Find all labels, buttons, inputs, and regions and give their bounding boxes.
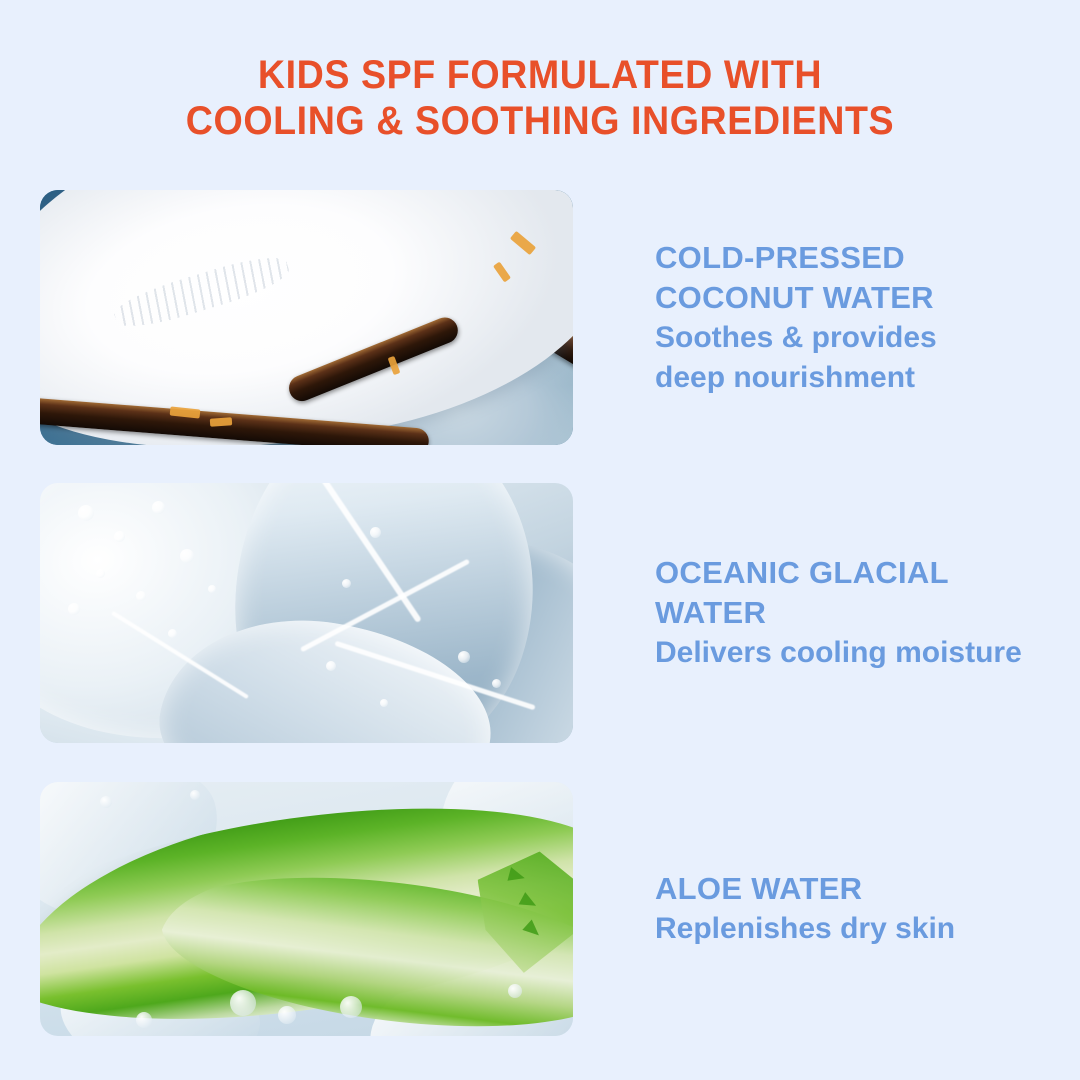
- ingredient-text-glacial: OCEANIC GLACIAL WATER Delivers cooling m…: [573, 553, 1040, 673]
- ice-bubble: [114, 531, 125, 542]
- ice-bubble: [152, 501, 165, 514]
- coconut-half-photo: [40, 190, 573, 445]
- glacial-ice-photo: [40, 483, 573, 743]
- ingredient-heading: ALOE WATER: [655, 869, 1040, 909]
- water-droplet: [230, 990, 256, 1016]
- ice-bubble: [96, 569, 105, 578]
- ingredient-row-aloe: ALOE WATER Replenishes dry skin: [40, 782, 1040, 1036]
- ice-bubble: [68, 603, 80, 615]
- water-droplet: [100, 796, 112, 808]
- water-droplet: [340, 996, 362, 1018]
- ice-bubble: [326, 661, 336, 671]
- ice-bubble: [492, 679, 501, 688]
- ingredient-description: Delivers cooling moisture: [655, 633, 1040, 673]
- ice-bubble: [168, 629, 177, 638]
- ingredient-text-aloe: ALOE WATER Replenishes dry skin: [573, 869, 1040, 949]
- ingredient-row-coconut: COLD-PRESSED COCONUT WATER Soothes & pro…: [40, 190, 1040, 445]
- ingredients-infographic: KIDS SPF FORMULATED WITH COOLING & SOOTH…: [0, 0, 1080, 1080]
- ingredient-heading: OCEANIC GLACIAL WATER: [655, 553, 1040, 633]
- water-droplet: [278, 1006, 296, 1024]
- ingredient-row-glacial: OCEANIC GLACIAL WATER Delivers cooling m…: [40, 483, 1040, 743]
- ice-bubble: [208, 585, 216, 593]
- page-title: KIDS SPF FORMULATED WITH COOLING & SOOTH…: [0, 52, 1080, 144]
- water-droplet: [190, 790, 200, 800]
- ingredient-text-coconut: COLD-PRESSED COCONUT WATER Soothes & pro…: [573, 238, 1040, 398]
- aloe-vera-leaf-photo: [40, 782, 573, 1036]
- ingredient-heading: COLD-PRESSED COCONUT WATER: [655, 238, 1040, 318]
- ice-bubble: [458, 651, 470, 663]
- page-title-line-1: KIDS SPF FORMULATED WITH: [32, 52, 1047, 98]
- page-title-line-2: COOLING & SOOTHING INGREDIENTS: [32, 98, 1047, 144]
- ice-bubble: [370, 527, 381, 538]
- water-droplet: [508, 984, 522, 998]
- ice-bubble: [136, 591, 146, 601]
- ice-bubble: [78, 505, 94, 521]
- ice-bubble: [380, 699, 388, 707]
- ice-bubble: [180, 549, 194, 563]
- ingredient-description: Replenishes dry skin: [655, 909, 1040, 949]
- ice-bubble: [342, 579, 351, 588]
- water-droplet: [136, 1012, 152, 1028]
- ingredient-description: Soothes & provides deep nourishment: [655, 318, 1040, 398]
- coconut-flesh-ridges: [110, 249, 293, 336]
- coconut-fiber: [210, 417, 233, 427]
